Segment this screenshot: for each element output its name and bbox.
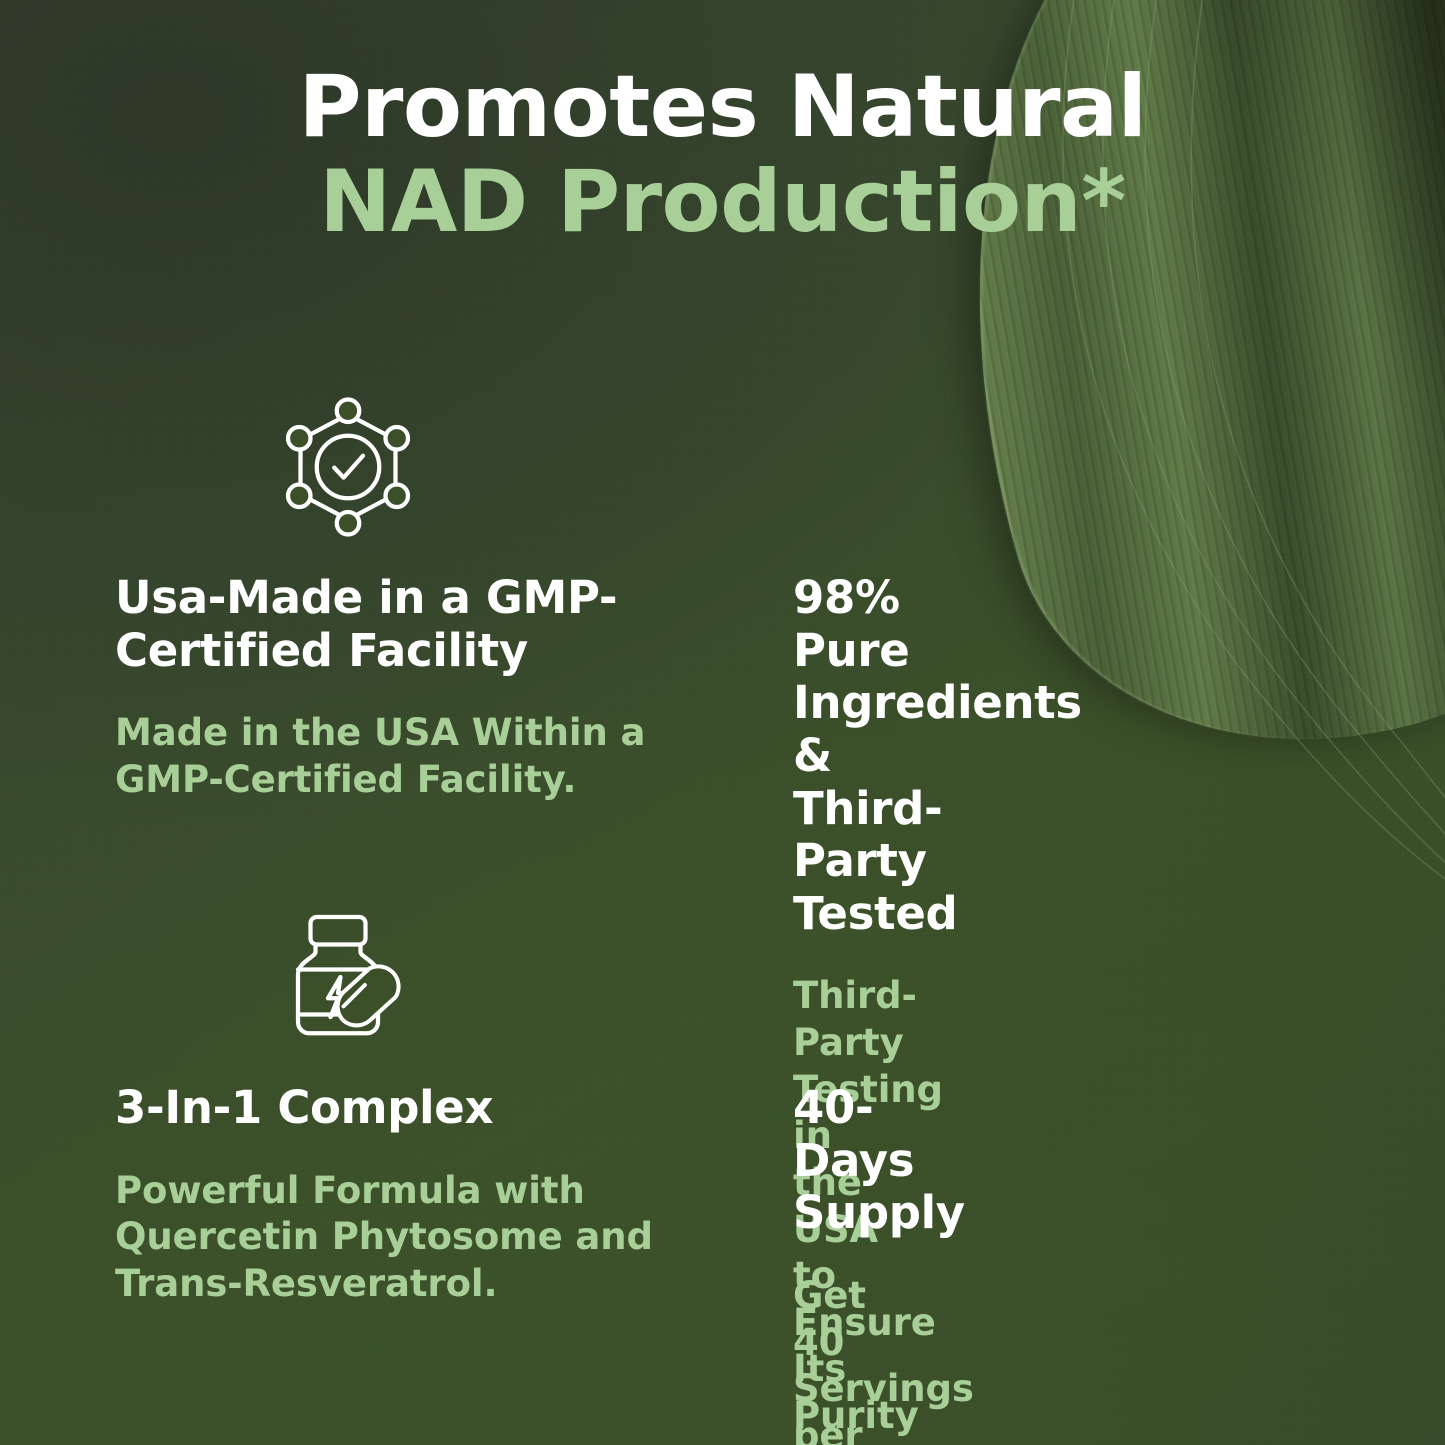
feature-card-40-days-supply: 40-Days Supply Get 40 Servings per Order… (0, 902, 813, 1445)
headline-line-1: Promotes Natural (0, 62, 1445, 153)
headline-line-2: NAD Production* (0, 157, 1445, 248)
product-benefits-infographic: Promotes Natural NAD Production* (0, 0, 1445, 1445)
page-title: Promotes Natural NAD Production* (0, 62, 1445, 248)
